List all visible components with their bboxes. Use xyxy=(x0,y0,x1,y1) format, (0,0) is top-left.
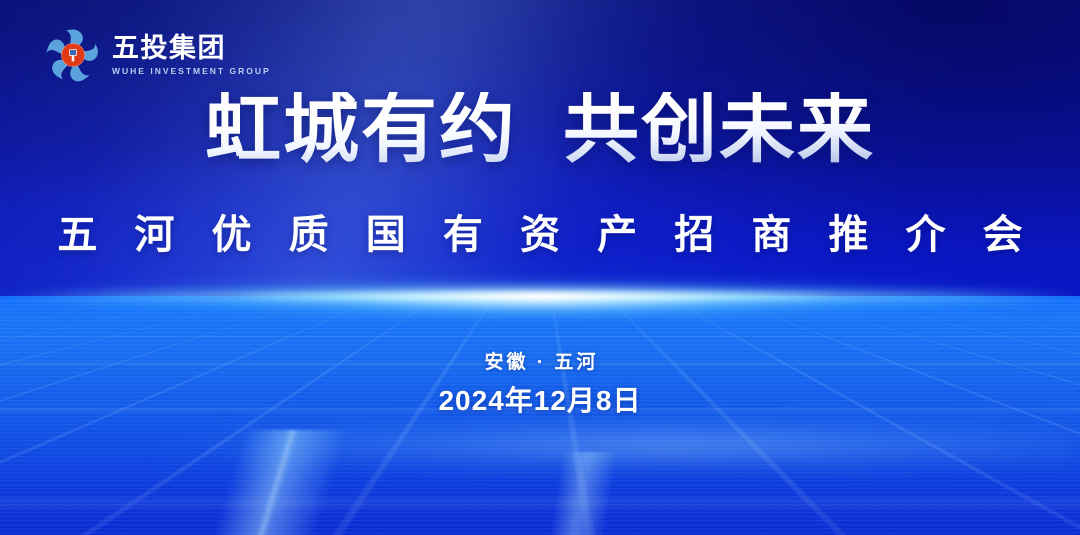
subtitle: 五 河 优 质 国 有 资 产 招 商 推 介 会 xyxy=(0,211,1080,259)
brand-logo-lockup: 五投集团 WUHE INVESTMENT GROUP xyxy=(44,26,271,84)
headline-part-2: 共创未来 xyxy=(563,87,875,172)
pinwheel-logo-icon xyxy=(44,26,102,84)
headline-part-1: 虹城有约 xyxy=(205,87,517,172)
poster-canvas: 五投集团 WUHE INVESTMENT GROUP 虹城有约共创未来 五 河 … xyxy=(0,0,1080,535)
event-location: 安徽 · 五河 xyxy=(0,350,1080,376)
brand-text-block: 五投集团 WUHE INVESTMENT GROUP xyxy=(112,34,271,75)
horizon-glow-core xyxy=(238,293,843,300)
event-date: 2024年12月8日 xyxy=(0,384,1080,418)
event-info: 安徽 · 五河 2024年12月8日 xyxy=(0,350,1080,417)
floor-diagonal-light-streak-secondary xyxy=(281,452,875,535)
headline: 虹城有约共创未来 xyxy=(0,92,1080,168)
brand-name-cn: 五投集团 xyxy=(112,34,271,62)
brand-name-en: WUHE INVESTMENT GROUP xyxy=(112,66,271,76)
secondary-glow-band xyxy=(0,428,1080,462)
